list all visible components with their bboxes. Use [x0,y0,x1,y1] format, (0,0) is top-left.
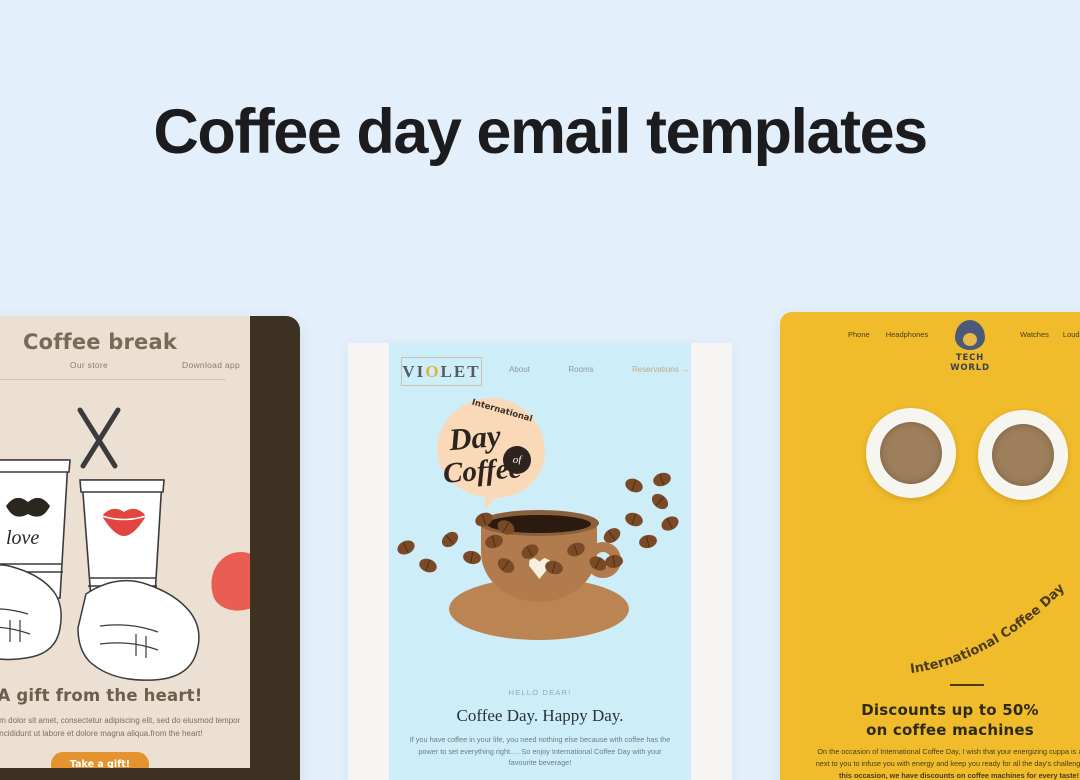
card1-heading: A gift from the heart! [0,686,250,705]
card1-body: Lorem ipsum dolor sit amet, consectetur … [0,714,250,740]
card1-divider [0,379,226,380]
card1-nav-download[interactable]: Download app [182,360,240,370]
card3-nav-left: Phone Headphones [848,330,928,339]
card2-brand-text: VIOLET [402,362,480,382]
card1-illustration: love [0,388,250,688]
card3-heading: Discounts up to 50% on coffee machines [780,700,1080,740]
tech-world-logo-icon [955,320,985,350]
card3-nav-loudspeakers[interactable]: Loudspeakers [1063,330,1080,339]
card3-body-plain: On the occasion of International Coffee … [816,747,1080,768]
card1-content: Coffee break About us Our store Download… [0,316,250,768]
template-card-coffee-break[interactable]: Coffee break About us Our store Download… [0,316,300,780]
card3-divider [950,684,984,686]
card2-nav-links: About Rooms Reservations → [509,365,689,374]
template-card-tech-world[interactable]: Phone Headphones Watches Loudspeakers TE… [780,312,1080,780]
card3-heading-line1: Discounts up to 50% [780,700,1080,720]
card3-heading-line2: on coffee machines [780,720,1080,740]
coffee-beans-icon [389,473,691,578]
card1-footer: Save your coffee [0,768,300,780]
coffee-cup-top-view-icon [866,408,956,498]
card2-nav-reservations[interactable]: Reservations → [632,365,689,374]
card2-heading: Coffee Day. Happy Day. [389,706,691,726]
card3-arc-label: International Coffee Day [909,581,1068,677]
card3-nav-watches[interactable]: Watches [1020,330,1049,339]
card2-nav-about[interactable]: About [509,365,530,374]
card2-badge-day: Day [448,418,503,458]
card3-nav-right: Watches Loudspeakers [1020,330,1080,339]
card3-nav-phone[interactable]: Phone [848,330,870,339]
coffee-cup-top-view-icon [978,410,1068,500]
card2-content: VIOLET About Rooms Reservations → Intern… [389,343,691,780]
card2-eyebrow: HELLO DEAR! [389,688,691,697]
card3-nav: Phone Headphones Watches Loudspeakers [780,330,1080,352]
card3-arc-text: International Coffee Day [900,562,1080,682]
card3-brand-text: TECH WORLD [940,353,1000,373]
template-gallery: Coffee break About us Our store Download… [0,0,1080,780]
card3-nav-headphones[interactable]: Headphones [886,330,929,339]
template-card-violet[interactable]: VIOLET About Rooms Reservations → Intern… [348,343,732,780]
cups-and-hands-icon: love [0,388,250,688]
page-root: Coffee day email templates Coffee break … [0,0,1080,780]
card2-nav: VIOLET About Rooms Reservations → [389,357,691,391]
card3-body: On the occasion of International Coffee … [814,746,1080,780]
card2-nav-rooms[interactable]: Rooms [568,365,593,374]
card1-nav: About us Our store Download app [0,360,240,370]
svg-text:love: love [6,527,39,549]
card3-brand[interactable]: TECH WORLD [940,320,1000,373]
card2-copy: HELLO DEAR! Coffee Day. Happy Day. If yo… [389,688,691,769]
card2-body: If you have coffee in your life, you nee… [389,734,691,769]
card3-cups-illustration [858,404,1078,514]
card2-brand-logo[interactable]: VIOLET [401,357,482,386]
card1-copy: A gift from the heart! Lorem ipsum dolor… [0,686,250,777]
card1-nav-store[interactable]: Our store [70,360,108,370]
card1-brand: Coffee break [0,330,250,354]
